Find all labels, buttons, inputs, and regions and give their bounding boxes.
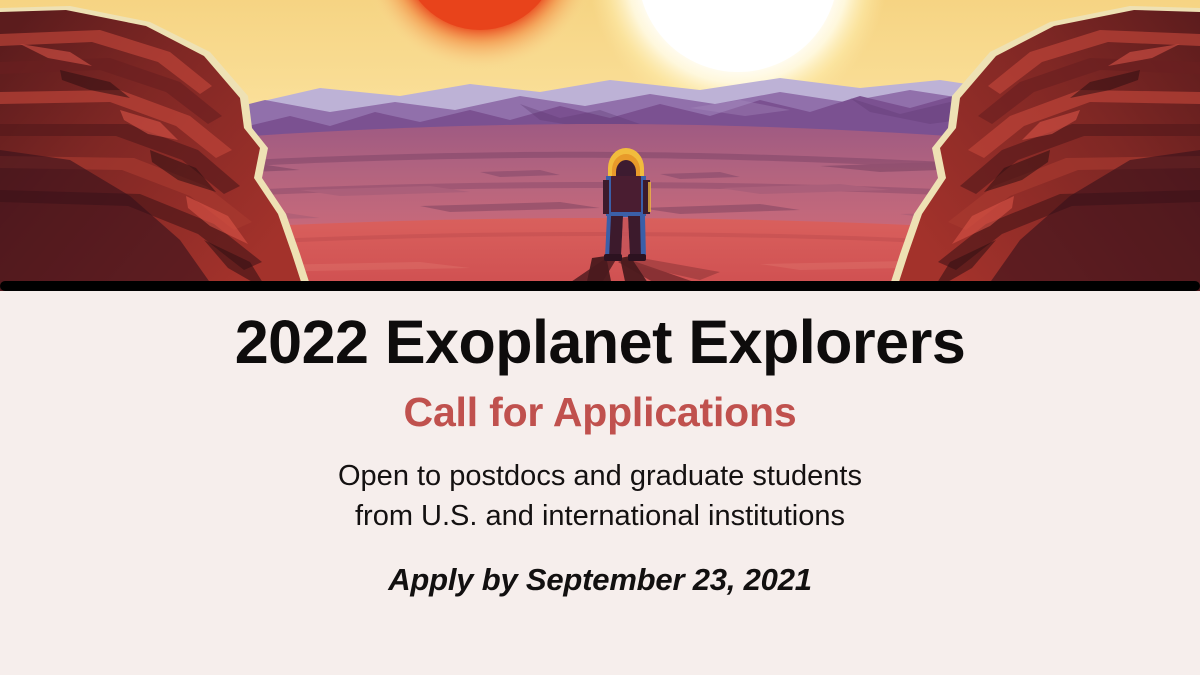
eligibility-line-2: from U.S. and international institutions xyxy=(355,500,845,532)
page-title: 2022 Exoplanet Explorers xyxy=(0,291,1200,373)
astronaut-leg-trim-right xyxy=(640,216,646,258)
separator-bar xyxy=(0,281,1200,291)
poster-root: 2022 Exoplanet Explorers Call for Applic… xyxy=(0,0,1200,675)
deadline-text: Apply by September 23, 2021 xyxy=(0,536,1200,598)
astronaut-arm-highlight xyxy=(648,182,651,212)
astronaut-arm-left xyxy=(603,180,609,214)
eligibility-line-1: Open to postdocs and graduate students xyxy=(338,460,862,492)
text-panel: 2022 Exoplanet Explorers Call for Applic… xyxy=(0,291,1200,675)
astronaut-boot-left xyxy=(604,254,622,261)
hero-illustration xyxy=(0,0,1200,291)
alien-landscape-artwork xyxy=(0,0,1200,291)
poster-subtitle: Call for Applications xyxy=(0,373,1200,434)
eligibility-text: Open to postdocs and graduate students f… xyxy=(0,434,1200,536)
astronaut-boot-right xyxy=(628,254,646,261)
astronaut-backpack xyxy=(610,176,642,214)
